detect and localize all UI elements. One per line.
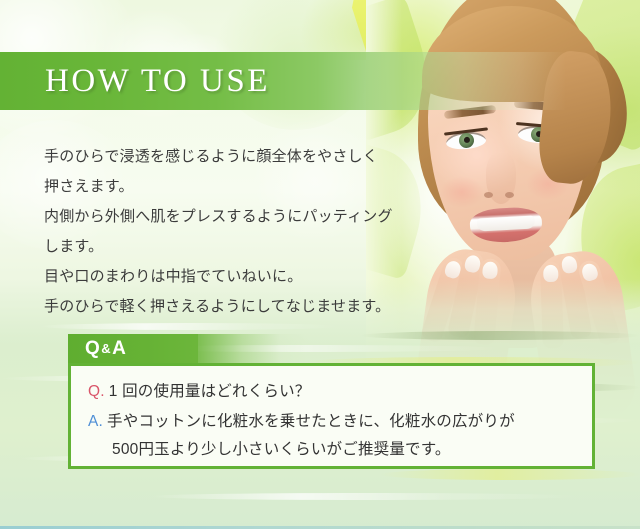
qa-tab-amp: & bbox=[100, 341, 112, 356]
question-text: 1 回の使用量はどれくらい？ bbox=[109, 383, 311, 400]
qa-answer-line-2: 500円玉より少し小さいくらいがご推奨量です。 bbox=[112, 437, 451, 459]
instruction-line: 目や口のまわりは中指でていねいに。 bbox=[44, 262, 404, 292]
water-shadow bbox=[360, 331, 640, 340]
page-title: HOW TO USE bbox=[45, 50, 270, 112]
answer-text-1: 手やコットンに化粧水を乗せたときに、化粧水の広がりが bbox=[107, 413, 515, 430]
qa-tab-gradient bbox=[198, 334, 308, 364]
qa-tab: Q&A bbox=[68, 334, 198, 364]
cheek bbox=[440, 176, 484, 208]
instruction-line: 手のひらで軽く押さえるようにしてなじませます。 bbox=[44, 292, 404, 322]
nostril bbox=[484, 192, 493, 198]
answer-marker: A. bbox=[88, 413, 107, 430]
qa-tab-q: Q bbox=[85, 338, 100, 359]
qa-tab-a: A bbox=[112, 338, 126, 359]
instruction-line: 内側から外側へ肌をプレスするようにパッティング bbox=[44, 202, 404, 232]
qa-answer-line-1: A.手やコットンに化粧水を乗せたときに、化粧水の広がりが bbox=[88, 409, 515, 431]
instruction-line: 手のひらで浸透を感じるように顔全体をやさしく bbox=[44, 142, 404, 172]
water-glint bbox=[380, 469, 640, 480]
instruction-line: します。 bbox=[44, 232, 404, 262]
question-marker: Q. bbox=[88, 383, 109, 400]
teeth bbox=[477, 215, 536, 231]
instruction-text: 手のひらで浸透を感じるように顔全体をやさしく 押さえます。 内側から外側へ肌をプ… bbox=[44, 142, 404, 322]
water-highlight bbox=[40, 323, 340, 330]
qa-question: Q.1 回の使用量はどれくらい？ bbox=[88, 379, 311, 401]
how-to-use-banner: HOW TO USE 手のひらで浸透を感じるように顔全体をやさしく 押さえます。… bbox=[0, 0, 640, 529]
nostril bbox=[505, 192, 514, 198]
qa-tab-label: Q&A bbox=[68, 338, 126, 360]
instruction-line: 押さえます。 bbox=[44, 172, 404, 202]
fingernail bbox=[560, 255, 578, 274]
water-highlight bbox=[150, 493, 580, 500]
fingernail bbox=[482, 261, 498, 279]
